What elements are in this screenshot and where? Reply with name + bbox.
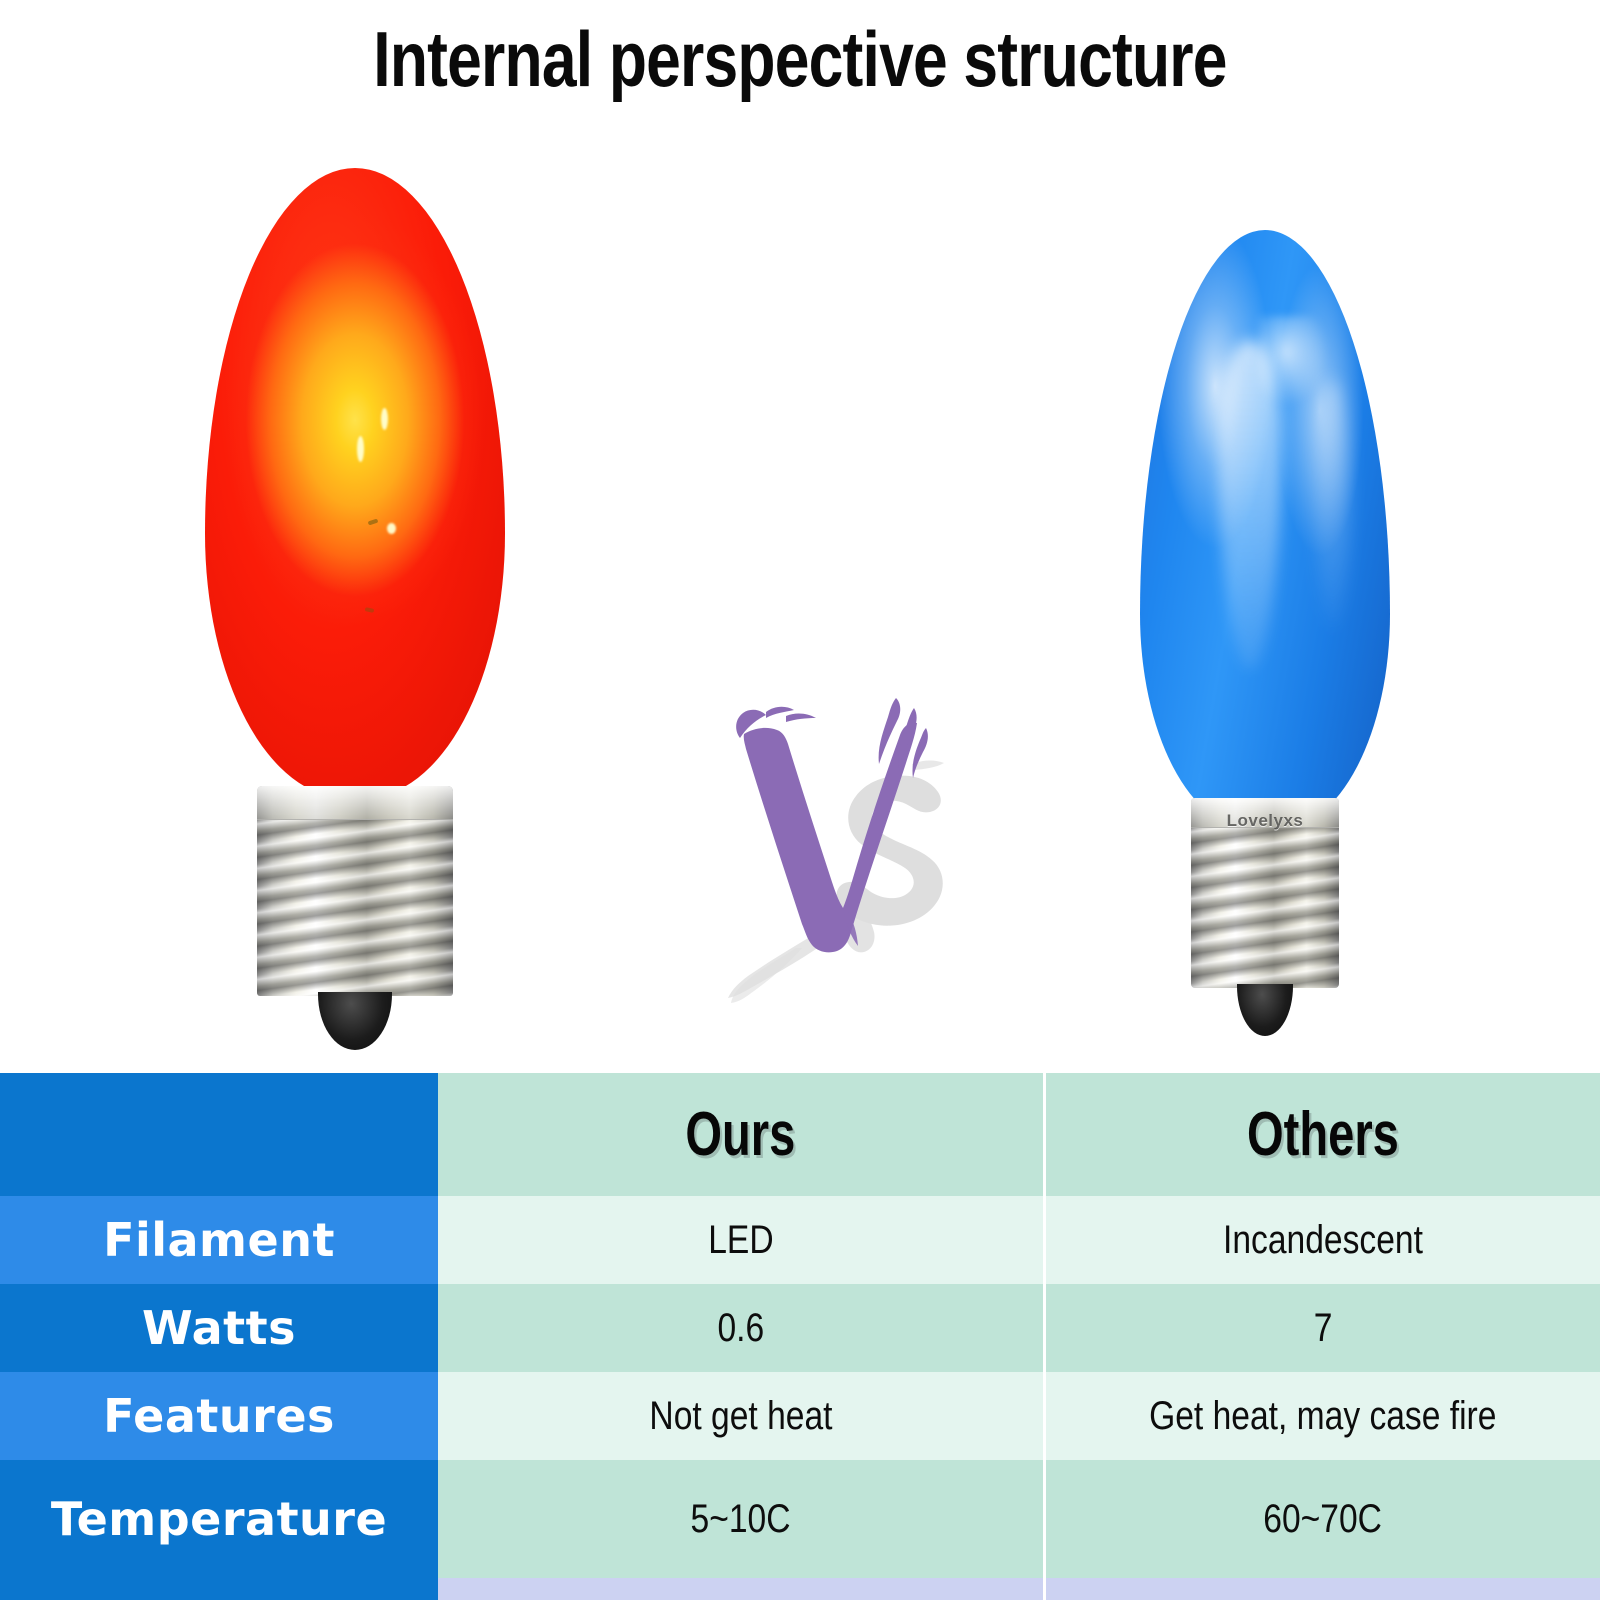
vs-graphic bbox=[700, 680, 960, 1020]
header-cell-blank bbox=[0, 1073, 438, 1196]
row-value-others: 7 bbox=[1046, 1284, 1600, 1372]
row-value-others bbox=[1046, 1578, 1600, 1600]
row-label: Features bbox=[103, 1389, 335, 1443]
base-threads bbox=[1191, 828, 1339, 988]
red-bulb-screw-base bbox=[257, 786, 453, 996]
base-collar bbox=[257, 786, 453, 820]
glass-highlight-icon bbox=[1316, 380, 1350, 630]
cell-value: LED bbox=[708, 1218, 773, 1263]
header-label-others: Others bbox=[1247, 1099, 1399, 1170]
page-title: Internal perspective structure bbox=[160, 14, 1440, 105]
blue-incandescent-bulb: Lovelyxs bbox=[1085, 150, 1445, 1050]
glow-highlight-icon bbox=[387, 523, 396, 534]
row-label: Temperature bbox=[51, 1492, 387, 1546]
table-header-row: Ours Others bbox=[0, 1073, 1600, 1196]
row-value-others: Incandescent bbox=[1046, 1196, 1600, 1284]
row-label: Watts bbox=[142, 1301, 296, 1355]
cell-value: Not get heat bbox=[649, 1394, 832, 1439]
row-value-ours: Not get heat bbox=[438, 1372, 1046, 1460]
blue-bulb-glass bbox=[1140, 230, 1390, 830]
table-row: Temperature 5~10C 60~70C bbox=[0, 1460, 1600, 1578]
header-label-ours: Ours bbox=[686, 1099, 796, 1170]
table-row: Filament LED Incandescent bbox=[0, 1196, 1600, 1284]
base-threads bbox=[257, 820, 453, 996]
filament-fleck-icon bbox=[365, 607, 375, 613]
red-led-bulb bbox=[175, 150, 535, 1050]
table-row: Features Not get heat Get heat, may case… bbox=[0, 1372, 1600, 1460]
row-value-ours: LED bbox=[438, 1196, 1046, 1284]
row-label-cell: Filament bbox=[0, 1196, 438, 1284]
cell-value: 5~10C bbox=[691, 1497, 791, 1542]
red-bulb-contact-tip bbox=[318, 992, 392, 1050]
product-comparison-infographic: Internal perspective structure bbox=[0, 0, 1600, 1600]
blue-bulb-contact-tip bbox=[1237, 984, 1293, 1036]
cell-value: Incandescent bbox=[1223, 1218, 1423, 1263]
row-label-cell: Features bbox=[0, 1372, 438, 1460]
comparison-table: Ours Others Filament LED Incandescent Wa… bbox=[0, 1073, 1600, 1600]
blue-bulb-screw-base: Lovelyxs bbox=[1191, 798, 1339, 988]
vs-s-letter-icon bbox=[728, 760, 944, 1003]
row-value-others: Get heat, may case fire bbox=[1046, 1372, 1600, 1460]
row-value-ours bbox=[438, 1578, 1046, 1600]
row-label-cell bbox=[0, 1578, 438, 1600]
table-row: Watts 0.6 7 bbox=[0, 1284, 1600, 1372]
row-value-others: 60~70C bbox=[1046, 1460, 1600, 1578]
cell-value: Get heat, may case fire bbox=[1149, 1394, 1496, 1439]
glow-highlight-icon bbox=[357, 436, 364, 462]
row-label-cell: Watts bbox=[0, 1284, 438, 1372]
base-emboss-text: Lovelyxs bbox=[1191, 811, 1339, 831]
cell-value: 60~70C bbox=[1264, 1497, 1383, 1542]
bulb-comparison-hero: Lovelyxs bbox=[0, 150, 1600, 1060]
glass-highlight-icon bbox=[1218, 340, 1282, 670]
header-cell-ours: Ours bbox=[438, 1073, 1046, 1196]
red-bulb-glass bbox=[205, 168, 505, 798]
glow-highlight-icon bbox=[381, 408, 388, 430]
row-label-cell: Temperature bbox=[0, 1460, 438, 1578]
vs-brush-svg bbox=[700, 680, 960, 1020]
filament-fleck-icon bbox=[368, 519, 379, 526]
cell-value: 0.6 bbox=[717, 1306, 764, 1351]
cell-value: 7 bbox=[1314, 1306, 1333, 1351]
row-label: Filament bbox=[103, 1213, 335, 1267]
row-value-ours: 5~10C bbox=[438, 1460, 1046, 1578]
row-value-ours: 0.6 bbox=[438, 1284, 1046, 1372]
table-row-partial bbox=[0, 1578, 1600, 1600]
header-cell-others: Others bbox=[1046, 1073, 1600, 1196]
